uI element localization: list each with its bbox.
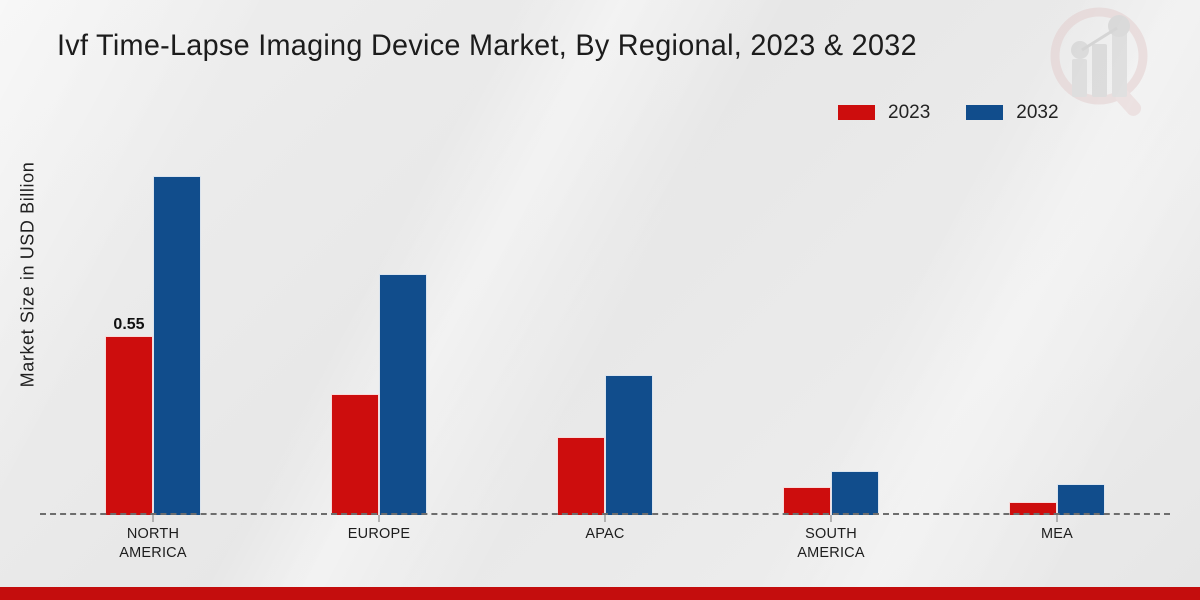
legend-swatch-2032 (966, 105, 1003, 120)
chart-legend: 2023 2032 (838, 103, 1059, 122)
x-axis-label-north-america: NORTH AMERICA (119, 525, 186, 562)
footer-accent-bar (0, 587, 1200, 600)
bar-group: EUROPE (266, 140, 492, 515)
x-axis-tick (379, 515, 380, 522)
bar-group: APAC (492, 140, 718, 515)
legend-item-2032[interactable]: 2032 (966, 103, 1058, 122)
bar-value-label: 0.55 (113, 316, 144, 334)
bar-2023-europe[interactable] (331, 394, 379, 515)
legend-label-2023: 2023 (888, 103, 930, 122)
bar-pair: 0.55 (105, 140, 201, 515)
x-axis-label-mea: MEA (1041, 525, 1073, 544)
plot-area: 0.55NORTH AMERICAEUROPEAPACSOUTH AMERICA… (40, 140, 1170, 515)
bar-pair (331, 140, 427, 515)
y-axis-title: Market Size in USD Billion (18, 125, 39, 425)
bar-2023-north-america[interactable]: 0.55 (105, 336, 153, 515)
bar-pair (557, 140, 653, 515)
chart-root: Ivf Time-Lapse Imaging Device Market, By… (0, 0, 1200, 600)
x-axis-baseline (40, 513, 1170, 515)
bar-2023-south-america[interactable] (783, 487, 831, 515)
x-axis-label-europe: EUROPE (348, 525, 410, 544)
x-axis-label-south-america: SOUTH AMERICA (797, 525, 864, 562)
x-axis-tick (1057, 515, 1058, 522)
bar-group: MEA (944, 140, 1170, 515)
x-axis-tick (831, 515, 832, 522)
chart-title: Ivf Time-Lapse Imaging Device Market, By… (57, 29, 917, 63)
bar-group: 0.55NORTH AMERICA (40, 140, 266, 515)
x-axis-tick (153, 515, 154, 522)
bar-2032-apac[interactable] (605, 375, 653, 515)
bar-pair (1009, 140, 1105, 515)
bar-2032-south-america[interactable] (831, 471, 879, 515)
legend-item-2023[interactable]: 2023 (838, 103, 930, 122)
bar-2032-europe[interactable] (379, 274, 427, 515)
bar-2032-mea[interactable] (1057, 484, 1105, 515)
legend-swatch-2023 (838, 105, 875, 120)
legend-label-2032: 2032 (1016, 103, 1058, 122)
bar-groups: 0.55NORTH AMERICAEUROPEAPACSOUTH AMERICA… (40, 140, 1170, 515)
watermark-logo (1042, 4, 1166, 128)
bar-2032-north-america[interactable] (153, 176, 201, 515)
bar-2023-apac[interactable] (557, 437, 605, 515)
x-axis-label-apac: APAC (585, 525, 624, 544)
x-axis-tick (605, 515, 606, 522)
bar-pair (783, 140, 879, 515)
bar-group: SOUTH AMERICA (718, 140, 944, 515)
